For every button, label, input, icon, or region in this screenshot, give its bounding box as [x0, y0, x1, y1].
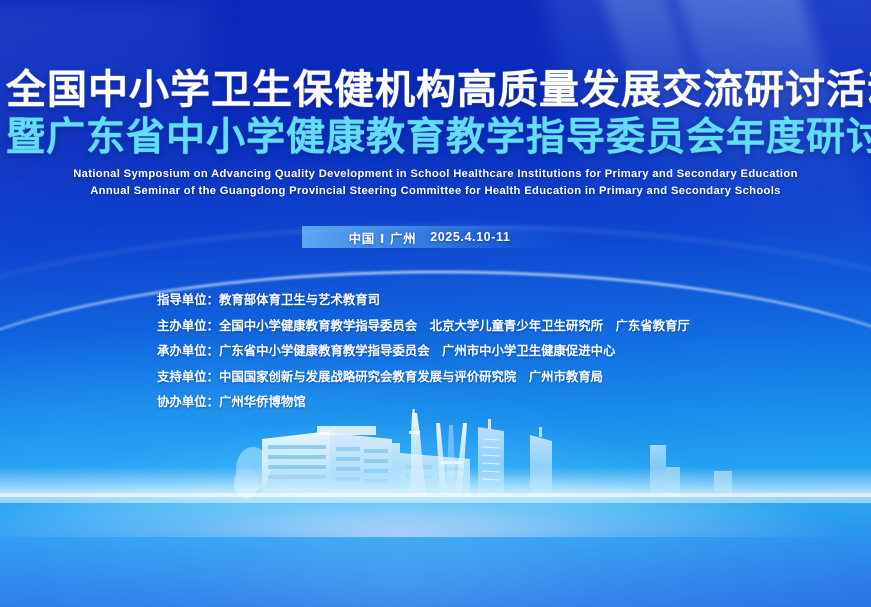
stepped-tower — [650, 445, 680, 495]
title-line-primary: 全国中小学卫生保健机构高质量发展交流研讨活动 — [0, 70, 871, 110]
poster-title-block: 全国中小学卫生保健机构高质量发展交流研讨活动 暨广东省中小学健康教育教学指导委员… — [0, 70, 871, 199]
conference-poster: 全国中小学卫生保健机构高质量发展交流研讨活动 暨广东省中小学健康教育教学指导委员… — [0, 0, 871, 607]
subtitle-english-line2: Annual Seminar of the Guangdong Provinci… — [0, 183, 871, 199]
organizer-label: 主办单位： — [157, 318, 219, 333]
organizer-row: 支持单位：中国国家创新与发展战略研究会教育发展与评价研究院 广州市教育局 — [157, 364, 690, 390]
city-skyline-illustration — [0, 409, 871, 529]
organizer-list: 指导单位：教育部体育卫生与艺术教育司 主办单位：全国中小学健康教育教学指导委员会… — [157, 287, 690, 415]
people-figures — [280, 486, 410, 497]
horizon-glow-decor — [0, 407, 871, 537]
event-info-badge: 中国 I 广州 2025.4.10-11 — [0, 226, 871, 248]
subtitle-english-line1: National Symposium on Advancing Quality … — [0, 166, 871, 182]
highrise-tower — [530, 427, 552, 495]
organizer-label: 协办单位： — [157, 394, 219, 409]
organizer-value: 教育部体育卫生与艺术教育司 — [219, 292, 380, 307]
title-line-secondary: 暨广东省中小学健康教育教学指导委员会年度研讨活动 — [0, 118, 871, 157]
organizer-row: 主办单位：全国中小学健康教育教学指导委员会 北京大学儿童青少年卫生研究所 广东省… — [157, 313, 690, 339]
organizer-label: 支持单位： — [157, 369, 219, 384]
organizer-label: 承办单位： — [157, 343, 219, 358]
organizer-row: 指导单位：教育部体育卫生与艺术教育司 — [157, 287, 690, 313]
twin-arch-towers — [436, 423, 467, 495]
badge-background: 中国 I 广州 2025.4.10-11 — [302, 226, 570, 248]
badge-location: 中国 I 广州 — [349, 228, 417, 247]
ladder-tower — [478, 419, 504, 495]
organizer-value: 中国国家创新与发展战略研究会教育发展与评价研究院 广州市教育局 — [219, 369, 603, 384]
organizer-row: 承办单位：广东省中小学健康教育教学指导委员会 广州市中小学卫生健康促进中心 — [157, 338, 690, 364]
organizer-value: 广东省中小学健康教育教学指导委员会 广州市中小学卫生健康促进中心 — [219, 343, 616, 358]
badge-date: 2025.4.10-11 — [430, 230, 510, 244]
block-tower — [714, 471, 732, 495]
tree-decor — [234, 447, 270, 499]
organizer-row: 协办单位：广州华侨博物馆 — [157, 389, 690, 415]
organizer-label: 指导单位： — [157, 292, 219, 307]
organizer-value: 全国中小学健康教育教学指导委员会 北京大学儿童青少年卫生研究所 广东省教育厅 — [219, 318, 690, 333]
canton-tower — [409, 409, 426, 495]
organizer-value: 广州华侨博物馆 — [219, 394, 306, 409]
bottom-fade-decor — [0, 497, 871, 607]
school-building — [262, 426, 470, 495]
